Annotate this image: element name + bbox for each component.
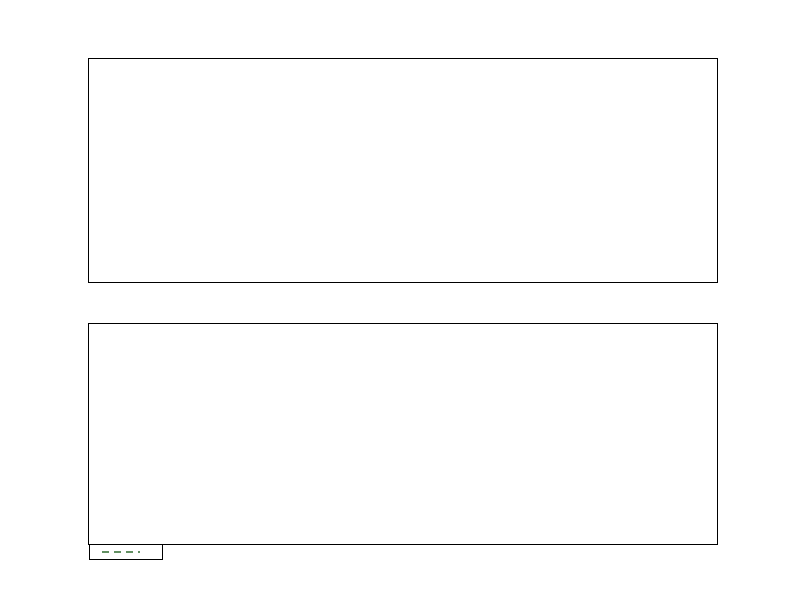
cumulative-histogram-plot	[89, 324, 717, 544]
cumulative-histogram-axes	[88, 323, 718, 545]
legend-dashed-line-icon	[100, 545, 142, 559]
differential-histogram-plot	[89, 59, 717, 282]
figure-canvas	[0, 0, 800, 600]
legend[interactable]	[89, 544, 163, 560]
differential-histogram-axes	[88, 58, 718, 283]
